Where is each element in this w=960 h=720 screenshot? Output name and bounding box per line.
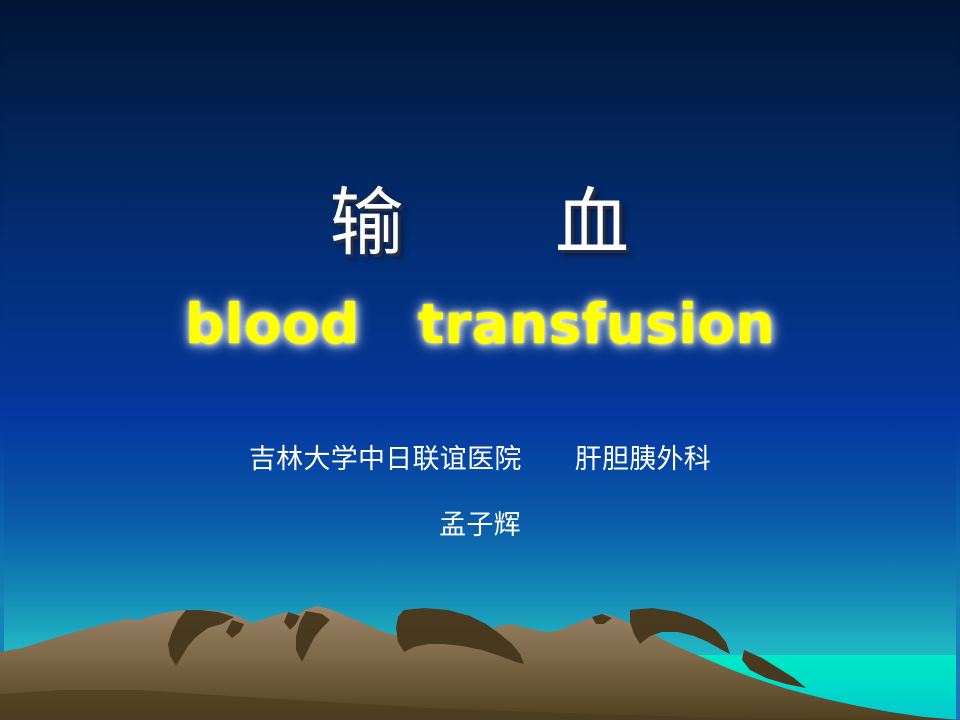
presenter-name: 孟子辉: [0, 503, 960, 542]
affiliation-line: 吉林大学中日联谊医院 肝胆胰外科: [0, 437, 960, 476]
presentation-slide: 输 血 blood transfusion 吉林大学中日联谊医院 肝胆胰外科 孟…: [0, 0, 960, 720]
mountain-range-illustration: [0, 590, 960, 720]
page-title-chinese: 输 血: [0, 186, 960, 261]
page-title-english: blood transfusion: [0, 292, 960, 356]
